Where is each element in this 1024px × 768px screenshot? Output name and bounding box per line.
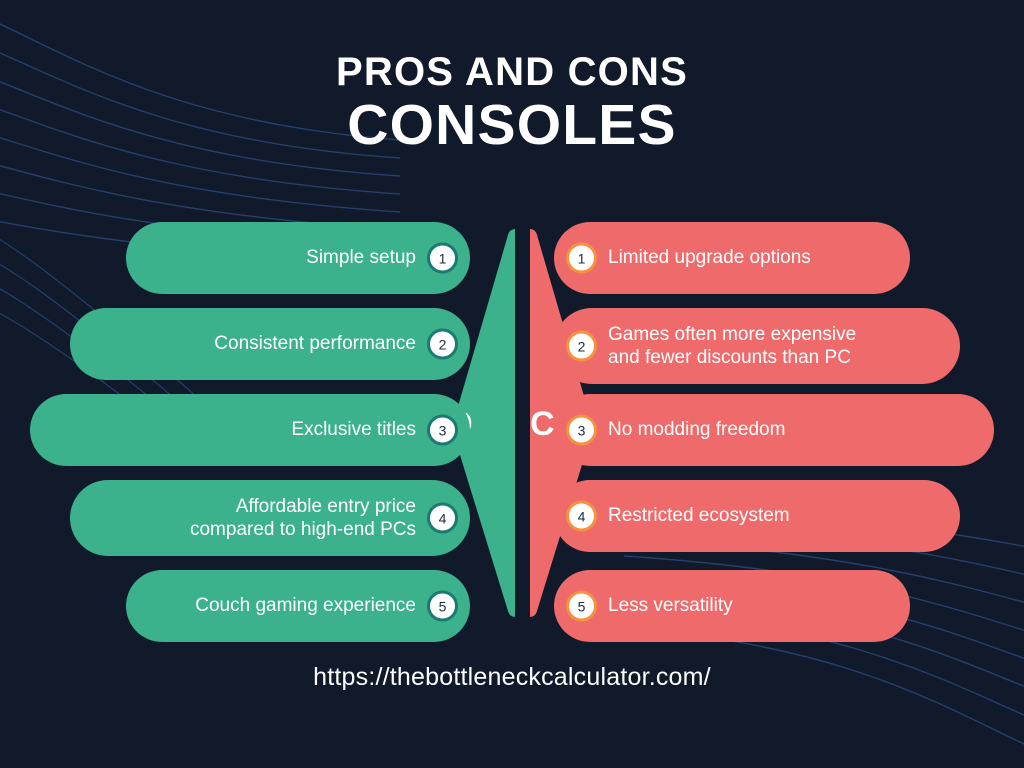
pro-item-2-label: Consistent performance: [214, 332, 416, 355]
con-item-1[interactable]: Limited upgrade options 1: [554, 222, 910, 294]
pro-item-2[interactable]: Consistent performance 2: [70, 308, 470, 380]
con-item-2-label: Games often more expensive and fewer dis…: [608, 323, 856, 369]
pro-item-5-badge: 5: [427, 591, 458, 622]
con-item-3-label: No modding freedom: [608, 418, 785, 441]
con-item-2[interactable]: Games often more expensive and fewer dis…: [554, 308, 960, 384]
pro-item-4-label: Affordable entry price compared to high-…: [190, 495, 416, 541]
pro-item-4[interactable]: Affordable entry price compared to high-…: [70, 480, 470, 556]
con-item-5-badge: 5: [566, 591, 597, 622]
con-item-3-badge: 3: [566, 415, 597, 446]
con-item-1-badge: 1: [566, 243, 597, 274]
con-item-4-badge: 4: [566, 501, 597, 532]
pro-item-3[interactable]: Exclusive titles 3: [30, 394, 470, 466]
pro-item-5-label: Couch gaming experience: [195, 594, 416, 617]
cons-column: Limited upgrade options 1 Games often mo…: [554, 222, 1024, 632]
con-item-4[interactable]: Restricted ecosystem 4: [554, 480, 960, 552]
pro-item-1-badge: 1: [427, 243, 458, 274]
page-eyebrow: PROS AND CONS: [0, 52, 1024, 93]
con-item-2-badge: 2: [566, 331, 597, 362]
pro-item-5[interactable]: Couch gaming experience 5: [126, 570, 470, 642]
pro-item-4-badge: 4: [427, 503, 458, 534]
con-item-3[interactable]: No modding freedom 3: [554, 394, 994, 466]
con-item-1-label: Limited upgrade options: [608, 246, 811, 269]
pro-item-1[interactable]: Simple setup 1: [126, 222, 470, 294]
page-title: CONSOLES: [0, 95, 1024, 157]
pro-item-2-badge: 2: [427, 329, 458, 360]
header: PROS AND CONS CONSOLES: [0, 52, 1024, 156]
con-item-5[interactable]: Less versatility 5: [554, 570, 910, 642]
pro-item-1-label: Simple setup: [306, 246, 416, 269]
pro-item-3-label: Exclusive titles: [291, 418, 416, 441]
pros-column: Simple setup 1 Consistent performance 2 …: [0, 222, 470, 632]
footer-url[interactable]: https://thebottleneckcalculator.com/: [0, 663, 1024, 692]
con-item-5-label: Less versatility: [608, 594, 733, 617]
con-item-4-label: Restricted ecosystem: [608, 504, 790, 527]
infographic-canvas: PROS AND CONS CONSOLES PRO CON Simple se…: [0, 0, 1024, 768]
pro-item-3-badge: 3: [427, 415, 458, 446]
